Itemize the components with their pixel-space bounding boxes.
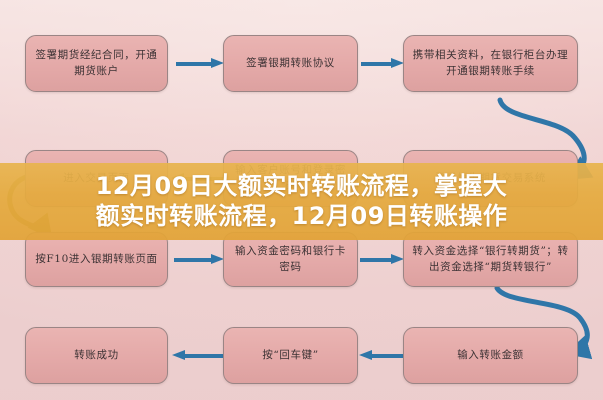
flow-node-label: 携带相关资料，在银行柜台办理开通银期转账手续 [411, 48, 570, 78]
flow-arrow-r1-a [176, 59, 224, 68]
flow-arrow-r4-a [172, 351, 223, 360]
flow-arrow-r3-a [174, 255, 224, 264]
flow-arrow-r1-b [361, 59, 404, 68]
flow-node-label: 签署期货经纪合同，开通期货账户 [33, 48, 160, 78]
flow-node-n11[interactable]: 按“回车键” [223, 327, 358, 384]
flow-node-label: 输入转账金额 [457, 348, 524, 363]
flow-node-n7[interactable]: 按F10进入银期转账页面 [25, 232, 168, 287]
flow-node-label: 输入资金密码和银行卡密码 [231, 244, 350, 274]
title-line-2: 额实时转账流程，12月09日转账操作 [96, 202, 508, 231]
flow-node-n12[interactable]: 输入转账金额 [403, 327, 578, 384]
flow-node-n3[interactable]: 携带相关资料，在银行柜台办理开通银期转账手续 [403, 35, 578, 92]
title-banner: 12月09日大额实时转账流程，掌握大 额实时转账流程，12月09日转账操作 [0, 163, 603, 240]
flow-arrow-r4-b [359, 351, 404, 360]
flowchart-canvas: 签署期货经纪合同，开通期货账户 签署银期转账协议 携带相关资料，在银行柜台办理开… [0, 0, 603, 400]
flow-node-n1[interactable]: 签署期货经纪合同，开通期货账户 [25, 35, 168, 92]
flow-node-n8[interactable]: 输入资金密码和银行卡密码 [223, 232, 358, 287]
flow-node-label: 转入资金选择“银行转期货”；转出资金选择“期货转银行” [411, 244, 570, 274]
flow-node-n10[interactable]: 转账成功 [25, 327, 168, 384]
flow-node-n2[interactable]: 签署银期转账协议 [223, 35, 358, 92]
flow-node-label: 按“回车键” [262, 348, 318, 363]
flow-node-label: 按F10进入银期转账页面 [35, 252, 157, 267]
title-line-1: 12月09日大额实时转账流程，掌握大 [96, 172, 508, 201]
flow-node-n9[interactable]: 转入资金选择“银行转期货”；转出资金选择“期货转银行” [403, 232, 578, 287]
flow-node-label: 转账成功 [74, 348, 118, 363]
flow-node-label: 签署银期转账协议 [246, 56, 335, 71]
flow-arrow-r3-b [360, 255, 404, 264]
